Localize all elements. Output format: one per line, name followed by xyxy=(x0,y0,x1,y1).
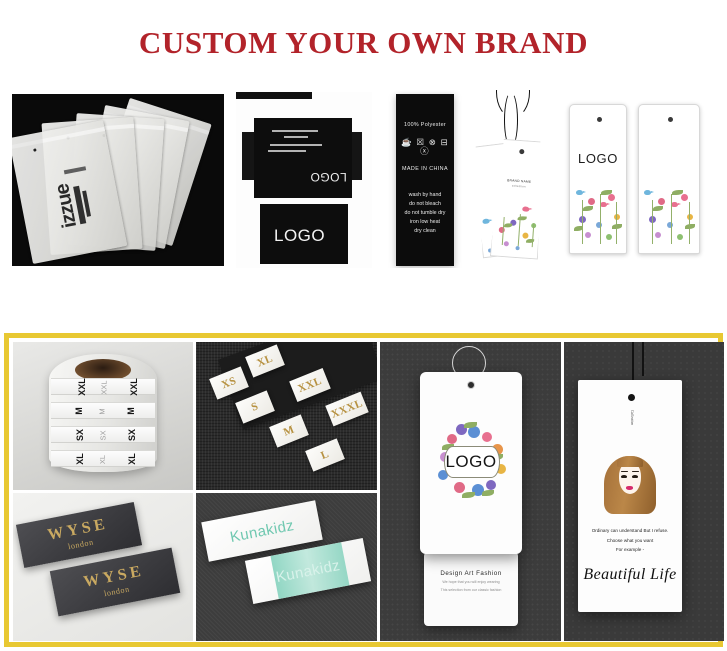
product-image-wyse-labels[interactable]: WYSE london WYSE london xyxy=(13,493,193,641)
hangtag-cord-right xyxy=(642,342,644,376)
photo-background: Kunakidz Kunakidz xyxy=(196,493,377,641)
size-text-faint: SX xyxy=(99,430,108,440)
top-product-section: izzue LOGO LOGO 100% Polyester ☕ ☒ ⊗ ⊟ ⓧ… xyxy=(0,86,727,332)
hair-fringe xyxy=(617,456,643,467)
box-logo-upright: LOGO xyxy=(274,226,325,246)
roll-band: XXL XXL XXL xyxy=(51,378,155,395)
hangtag-vertical-text: Collection xyxy=(630,410,634,425)
size-text-faint: XL xyxy=(98,455,107,464)
photo-background: izzue xyxy=(12,94,224,266)
box-logo-inverted: LOGO xyxy=(310,170,347,184)
product-image-black-box[interactable]: LOGO LOGO xyxy=(236,92,372,268)
product-image-kunakidz-labels[interactable]: Kunakidz Kunakidz xyxy=(196,493,377,641)
roll-band: M M M xyxy=(51,402,155,419)
product-image-floral-hangtag-pair[interactable]: BRAND NAME collection xyxy=(470,90,562,268)
quote-line-2: Choose what you want xyxy=(578,536,682,546)
back-title: Design Art Fashion xyxy=(424,570,518,577)
size-text: SX xyxy=(127,429,137,441)
photo-background: WYSE london WYSE london xyxy=(13,493,193,641)
hangtag-hole xyxy=(628,394,635,401)
beautiful-life-card: Collection Ordinary can understand But I… xyxy=(578,380,682,612)
blank-hangtag xyxy=(638,104,700,254)
floral-pattern xyxy=(491,201,541,259)
label-roll: XXL XXL XXL M M M SX SX SX XL XL XL xyxy=(49,354,157,472)
product-image-beautiful-life-hangtag[interactable]: Collection Ordinary can understand But I… xyxy=(564,342,724,641)
label-material: 100% Polyester xyxy=(396,122,454,128)
size-text: XL xyxy=(75,453,85,465)
product-image-size-label-roll[interactable]: XXL XXL XXL M M M SX SX SX XL XL XL xyxy=(13,342,193,490)
size-text: XXL xyxy=(129,378,139,396)
photo-background: XS XL S XXL M XXXL L xyxy=(196,342,377,490)
photo-background: Design Art Fashion We hope that you will… xyxy=(380,342,561,641)
size-label-m: M xyxy=(269,414,309,447)
page-header: CUSTOM YOUR OWN BRAND xyxy=(0,0,727,86)
hangtag-script-text: Beautiful Life xyxy=(578,566,682,584)
photo-background: XXL XXL XXL M M M SX SX SX XL XL XL xyxy=(13,342,193,490)
hangtag-logo-text: LOGO xyxy=(420,452,522,472)
floral-pattern xyxy=(570,176,626,253)
photo-background: Collection Ordinary can understand But I… xyxy=(564,342,724,641)
back-line-2: This selection from our classic fashion xyxy=(424,587,518,593)
woman-illustration xyxy=(604,454,656,514)
label-origin: MADE IN CHINA xyxy=(396,166,454,172)
product-image-washing-label[interactable]: 100% Polyester ☕ ☒ ⊗ ⊟ ⓧ MADE IN CHINA w… xyxy=(382,90,468,268)
product-image-logo-hangtag[interactable]: LOGO xyxy=(564,90,632,268)
label-care-instructions: wash by hand do not bleach do not tumble… xyxy=(396,191,454,237)
logo-hangtag: LOGO xyxy=(569,104,627,254)
hangtag-eyelet xyxy=(467,381,475,389)
quote-line-1: Ordinary can understand But I refuse. xyxy=(578,526,682,536)
product-image-floral-logo-hangtag[interactable]: Design Art Fashion We hope that you will… xyxy=(380,342,561,641)
floral-pattern xyxy=(639,176,699,253)
washing-label: 100% Polyester ☕ ☒ ⊗ ⊟ ⓧ MADE IN CHINA w… xyxy=(396,94,454,266)
size-text-faint: M xyxy=(98,408,107,414)
product-image-packaging-bag[interactable]: izzue xyxy=(12,94,224,266)
hangtag-back-text: Design Art Fashion We hope that you will… xyxy=(424,570,518,594)
hangtag-quote: Ordinary can understand But I refuse. Ch… xyxy=(578,526,682,555)
box-body: LOGO xyxy=(260,204,348,264)
hangtag-front-card: LOGO xyxy=(420,372,522,554)
bottom-product-gallery: XXL XXL XXL M M M SX SX SX XL XL XL xyxy=(4,333,723,647)
quote-line-3: For example - xyxy=(578,545,682,555)
product-image-blank-hangtag[interactable] xyxy=(634,90,718,268)
box-lid: LOGO xyxy=(254,118,352,198)
size-text: XXL xyxy=(77,378,87,396)
hangtag-brand-sub: collection xyxy=(496,183,542,189)
size-text: XL xyxy=(127,453,137,465)
size-text-faint: XXL xyxy=(100,380,109,394)
hangtag-logo-text: LOGO xyxy=(570,151,626,166)
page-title: CUSTOM YOUR OWN BRAND xyxy=(139,25,588,61)
product-image-gold-size-labels[interactable]: XS XL S XXL M XXXL L xyxy=(196,342,377,490)
hangtag-back-card: Design Art Fashion We hope that you will… xyxy=(424,552,518,626)
box-base xyxy=(236,92,312,99)
roll-band: XL XL XL xyxy=(51,450,155,467)
back-line-1: We hope that you will enjoy wearing xyxy=(424,579,518,585)
care-symbols-icon: ☕ ☒ ⊗ ⊟ ⓧ xyxy=(396,138,454,155)
kunakidz-brand-text: Kunakidz xyxy=(229,516,296,545)
size-text: M xyxy=(74,407,84,415)
size-text: SX xyxy=(75,429,85,441)
size-label-l: L xyxy=(305,438,345,471)
roll-band: SX SX SX xyxy=(51,426,155,443)
size-text: M xyxy=(126,407,136,415)
